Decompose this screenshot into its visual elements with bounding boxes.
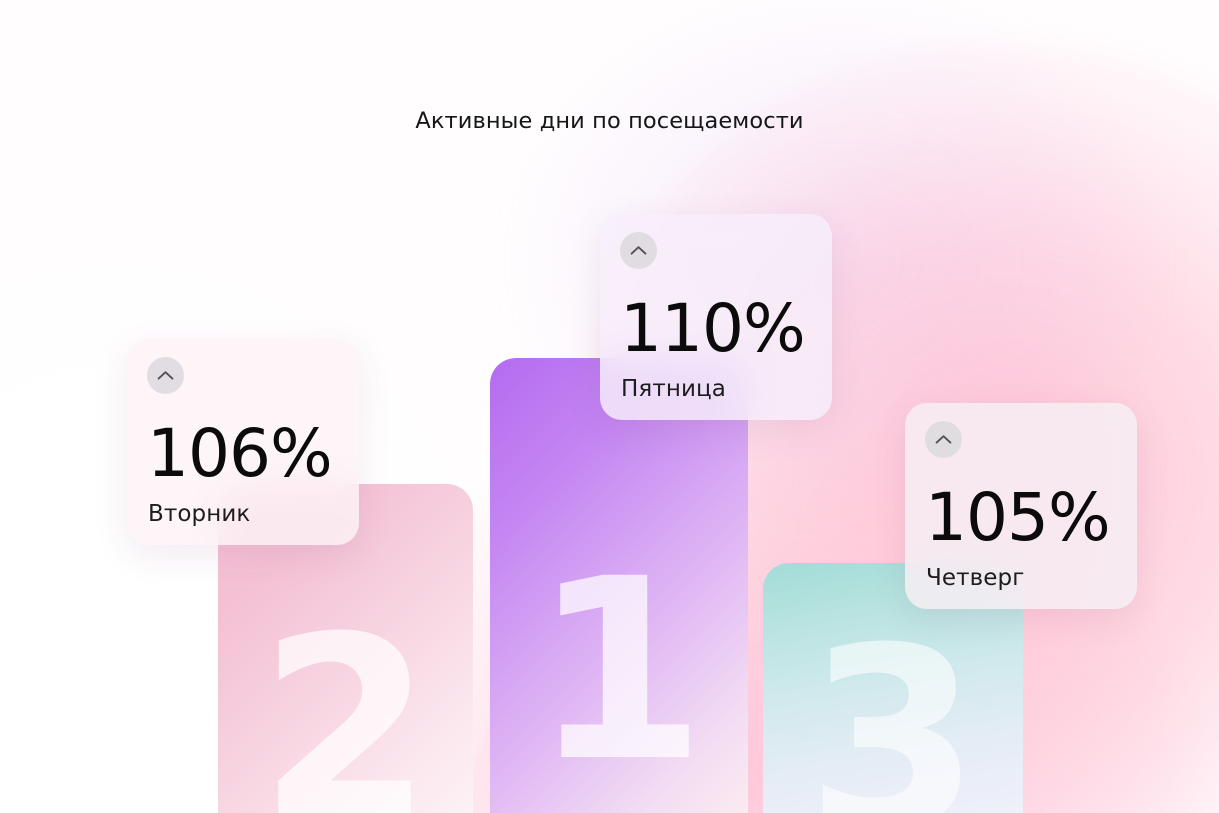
- metric-value: 106%: [147, 421, 332, 487]
- metric-value: 110%: [620, 296, 805, 362]
- bar-rank-label: 3: [763, 615, 1023, 813]
- bar-rank-label: 2: [218, 604, 473, 813]
- metric-card-thursday[interactable]: 105% Четверг: [905, 403, 1137, 609]
- metric-card-friday[interactable]: 110% Пятница: [600, 214, 832, 420]
- metric-day-label: Пятница: [621, 376, 726, 402]
- bar-friday[interactable]: 1: [490, 358, 748, 813]
- chevron-up-icon[interactable]: [147, 357, 184, 394]
- attendance-chart-stage: Активные дни по посещаемости 2 1 3 106% …: [0, 0, 1219, 813]
- chevron-up-icon[interactable]: [620, 232, 657, 269]
- metric-card-tuesday[interactable]: 106% Вторник: [127, 339, 359, 545]
- metric-day-label: Четверг: [926, 565, 1024, 591]
- metric-day-label: Вторник: [148, 501, 250, 527]
- metric-value: 105%: [925, 485, 1110, 551]
- chevron-up-icon[interactable]: [925, 421, 962, 458]
- bar-rank-label: 1: [490, 546, 748, 796]
